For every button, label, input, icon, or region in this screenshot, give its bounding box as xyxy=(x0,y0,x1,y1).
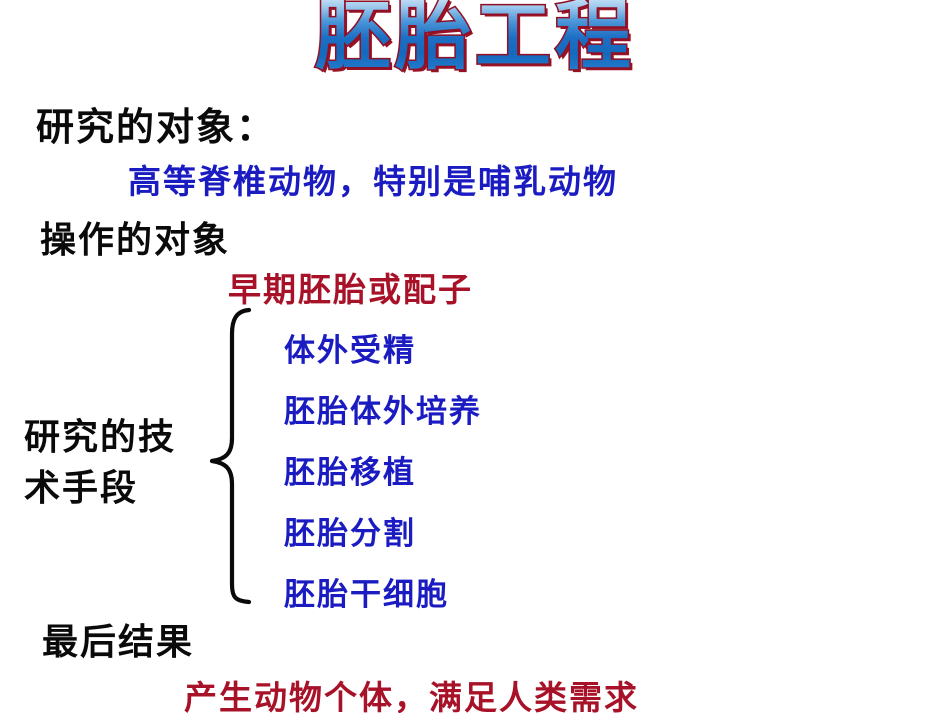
technique-item: 胚胎体外培养 xyxy=(284,386,482,431)
operation-object-label: 操作的对象 xyxy=(40,211,230,263)
research-subject-label: 研究的对象： xyxy=(36,96,276,151)
slide-canvas: 胚胎工程 胚胎工程 胚胎工程 研究的对象： 高等脊椎动物，特别是哺乳动物 操作的… xyxy=(0,0,950,713)
technique-item: 胚胎干细胞 xyxy=(284,569,449,614)
research-subject-value: 高等脊椎动物，特别是哺乳动物 xyxy=(128,155,618,203)
technique-means-label-line2: 术手段 xyxy=(24,463,176,514)
page-title: 胚胎工程 xyxy=(0,0,950,76)
curly-brace-icon xyxy=(206,306,256,606)
technique-item: 胚胎分割 xyxy=(284,508,416,553)
technique-means-label: 研究的技 术手段 xyxy=(24,412,176,514)
technique-means-label-line1: 研究的技 xyxy=(24,412,176,463)
technique-item: 体外受精 xyxy=(284,325,416,370)
final-result-value: 产生动物个体，满足人类需求 xyxy=(184,671,639,713)
operation-object-value: 早期胚胎或配子 xyxy=(228,263,473,311)
technique-item: 胚胎移植 xyxy=(284,447,416,492)
final-result-label: 最后结果 xyxy=(42,613,194,665)
